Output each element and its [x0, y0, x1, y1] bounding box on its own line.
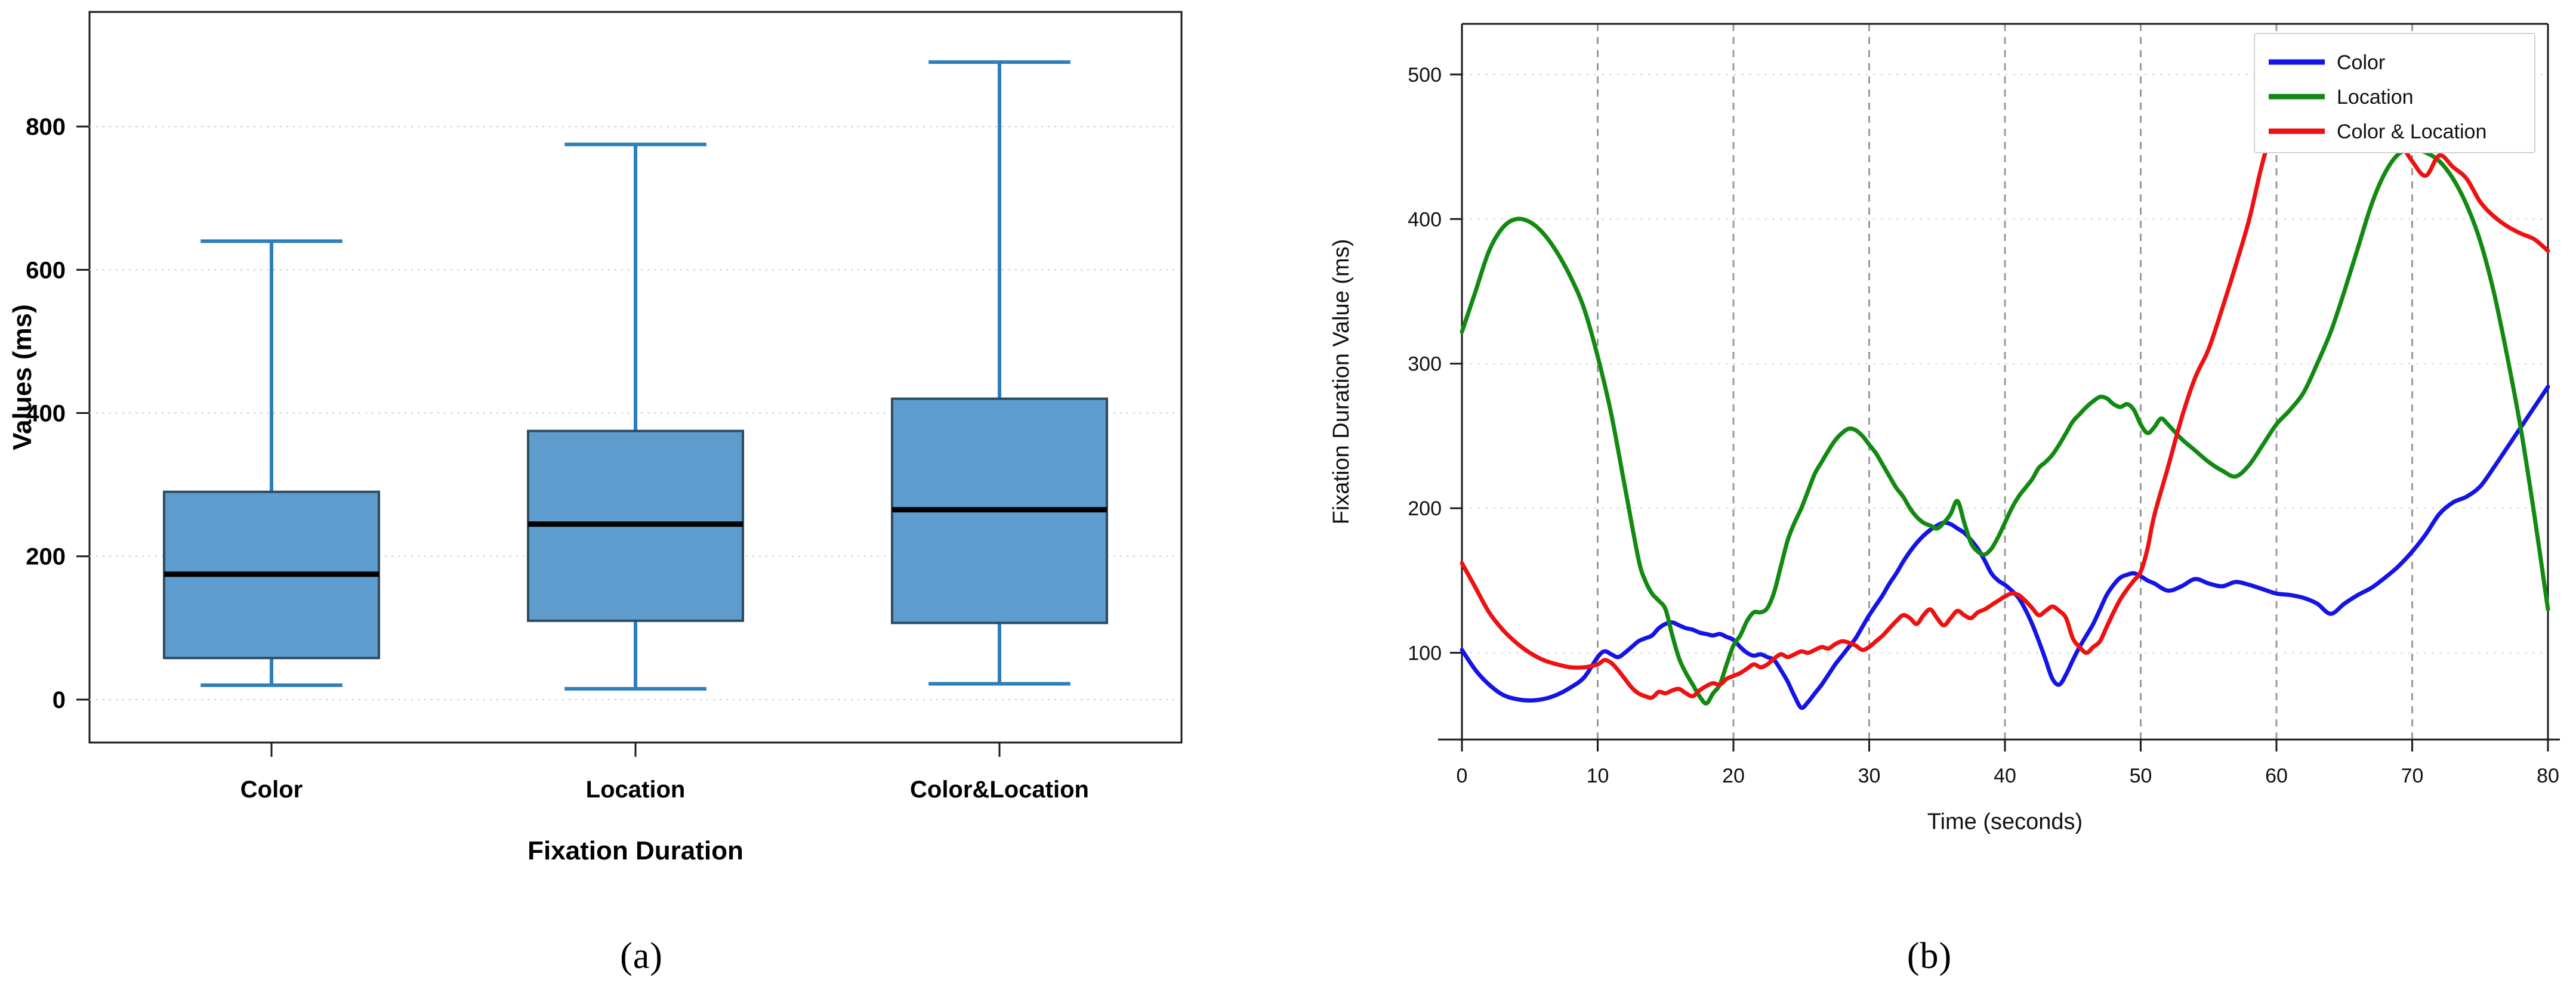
x-axis-title: Fixation Duration	[527, 836, 744, 865]
x-tick-label: Color	[240, 777, 303, 803]
panel-b-timeseries: 10020030040050001020304050607080Fixation…	[1283, 0, 2576, 999]
caption-b: (b)	[1283, 935, 2576, 978]
x-tick-label: 20	[1722, 765, 1745, 787]
x-tick-label: 60	[2265, 765, 2288, 787]
x-tick-label: 70	[2401, 765, 2424, 787]
x-tick-label: 80	[2537, 765, 2559, 787]
figure-container: 0200400600800Values (ms)ColorLocationCol…	[0, 0, 2576, 999]
x-tick-label: 0	[1457, 765, 1468, 787]
y-tick-label: 200	[1408, 497, 1442, 520]
boxplot-group	[164, 241, 379, 685]
boxplot-chart: 0200400600800Values (ms)ColorLocationCol…	[0, 0, 1283, 877]
y-tick-label: 800	[26, 114, 66, 140]
boxplot-group	[528, 144, 743, 689]
x-tick-label: Location	[586, 777, 686, 803]
panel-a-boxplot: 0200400600800Values (ms)ColorLocationCol…	[0, 0, 1283, 999]
x-tick-label: 30	[1858, 765, 1881, 787]
legend-label-1: Color	[2337, 51, 2385, 74]
legend-label-2: Location	[2337, 86, 2414, 109]
y-tick-label: 600	[26, 257, 66, 283]
y-axis-title: Values (ms)	[8, 304, 37, 450]
y-tick-label: 500	[1408, 64, 1442, 86]
x-tick-label: Color&Location	[910, 777, 1089, 803]
boxplot-group	[892, 62, 1107, 683]
y-tick-label: 100	[1408, 642, 1442, 665]
y-tick-label: 200	[26, 544, 66, 570]
x-tick-label: 10	[1587, 765, 1609, 787]
y-axis-title: Fixation Duration Value (ms)	[1329, 239, 1354, 525]
y-tick-label: 0	[53, 687, 66, 713]
y-tick-label: 300	[1408, 353, 1442, 376]
timeseries-chart: 10020030040050001020304050607080Fixation…	[1283, 0, 2576, 835]
x-tick-label: 50	[2130, 765, 2152, 787]
x-tick-label: 40	[1994, 765, 2016, 787]
legend-label-3: Color & Location	[2337, 120, 2486, 143]
caption-a: (a)	[0, 935, 1283, 978]
y-tick-label: 400	[1408, 208, 1442, 231]
x-axis-title: Time (seconds)	[1927, 809, 2083, 834]
